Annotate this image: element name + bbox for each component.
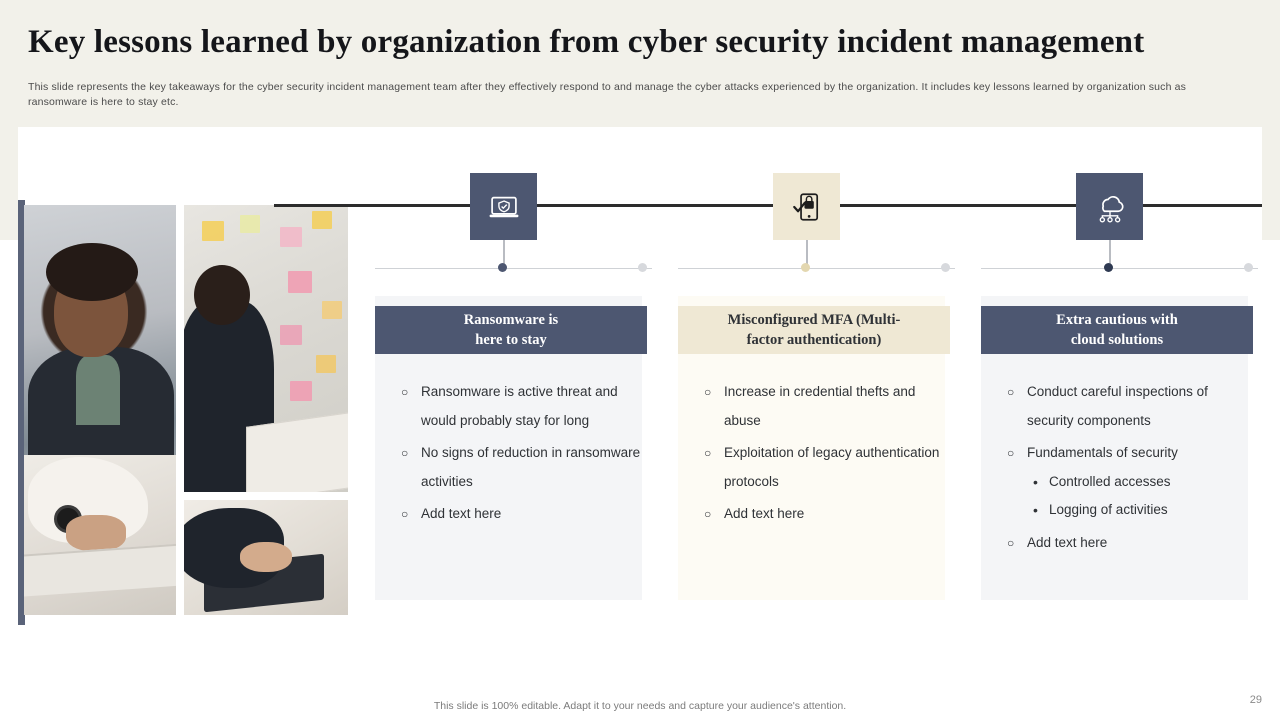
bullet-text: Exploitation of legacy authentication pr… <box>724 445 939 489</box>
list-item: ○ Add text here <box>397 500 642 529</box>
bullet-text: Increase in credential thefts and abuse <box>724 384 915 428</box>
footer-note: This slide is 100% editable. Adapt it to… <box>0 700 1280 712</box>
sub-list: • Controlled accesses • Logging of activ… <box>1027 468 1248 525</box>
heading-line-2: cloud solutions <box>1056 330 1178 350</box>
bullet-marker: ○ <box>704 439 711 468</box>
heading-line-2: factor authentication) <box>728 330 901 350</box>
bullet-text: Conduct careful inspections of security … <box>1027 384 1208 428</box>
photo-person-at-desk <box>24 205 176 615</box>
rail-dot-active-3 <box>1104 263 1113 272</box>
bullet-text: Add text here <box>724 506 804 521</box>
bullet-marker: ○ <box>1007 439 1014 468</box>
sub-bullet-text: Controlled accesses <box>1049 474 1171 489</box>
photo-collage <box>18 200 348 625</box>
list-item: ○ Increase in credential thefts and abus… <box>700 378 945 435</box>
rail-dot-active-2 <box>801 263 810 272</box>
rail-1 <box>375 268 652 269</box>
heading-line-1: Extra cautious with <box>1056 310 1178 330</box>
sub-bullet-text: Logging of activities <box>1049 502 1168 517</box>
page-title: Key lessons learned by organization from… <box>28 24 1228 61</box>
page-subtitle: This slide represents the key takeaways … <box>28 80 1200 110</box>
rail-dot-end-3 <box>1244 263 1253 272</box>
list-item: ○ Conduct careful inspections of securit… <box>1003 378 1248 435</box>
list-item: ○ Add text here <box>700 500 945 529</box>
lesson-card-heading-2: Misconfigured MFA (Multi- factor authent… <box>678 306 950 354</box>
photo-sticky-note-wall <box>184 205 348 492</box>
bullet-marker: • <box>1033 496 1038 525</box>
bullet-marker: ○ <box>704 500 711 529</box>
heading-line-1: Misconfigured MFA (Multi- <box>728 310 901 330</box>
bullet-marker: ○ <box>401 378 408 407</box>
bullet-marker: ○ <box>1007 378 1014 407</box>
bullet-text: Fundamentals of security <box>1027 445 1178 460</box>
rail-dot-end-2 <box>941 263 950 272</box>
bullet-marker: • <box>1033 468 1038 497</box>
sub-list-item: • Logging of activities <box>1027 496 1248 525</box>
bullet-text: No signs of reduction in ransomware acti… <box>421 445 640 489</box>
heading-line-2: here to stay <box>464 330 558 350</box>
photo-hands-on-keyboard <box>184 500 348 615</box>
list-item: ○ Add text here <box>1003 529 1248 558</box>
bullet-text: Add text here <box>1027 535 1107 550</box>
lesson-card-heading-1: Ransomware is here to stay <box>375 306 647 354</box>
mobile-lock-icon <box>773 173 840 240</box>
bullet-text: Ransomware is active threat and would pr… <box>421 384 618 428</box>
list-item: ○ Exploitation of legacy authentication … <box>700 439 945 496</box>
rail-3 <box>981 268 1258 269</box>
list-item: ○ No signs of reduction in ransomware ac… <box>397 439 642 496</box>
heading-line-1: Ransomware is <box>464 310 558 330</box>
page-number: 29 <box>1250 694 1262 706</box>
bullet-marker: ○ <box>401 439 408 468</box>
lesson-card-heading-3: Extra cautious with cloud solutions <box>981 306 1253 354</box>
bullet-marker: ○ <box>401 500 408 529</box>
laptop-shield-icon <box>470 173 537 240</box>
rail-dot-active-1 <box>498 263 507 272</box>
list-item: ○ Fundamentals of security • Controlled … <box>1003 439 1248 525</box>
rail-dot-end-1 <box>638 263 647 272</box>
cloud-network-icon <box>1076 173 1143 240</box>
bullet-marker: ○ <box>1007 529 1014 558</box>
rail-2 <box>678 268 955 269</box>
sub-list-item: • Controlled accesses <box>1027 468 1248 497</box>
bullet-text: Add text here <box>421 506 501 521</box>
list-item: ○ Ransomware is active threat and would … <box>397 378 642 435</box>
bullet-marker: ○ <box>704 378 711 407</box>
